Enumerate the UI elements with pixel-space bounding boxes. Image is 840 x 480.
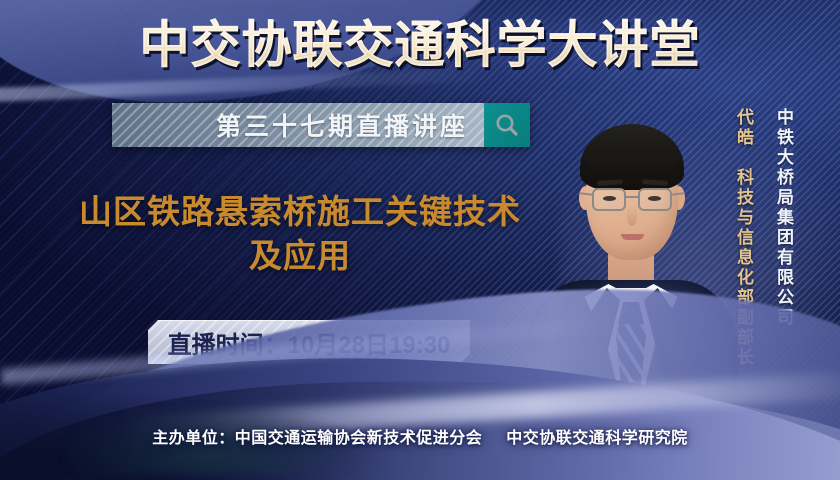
episode-banner-body: 第三十七期直播讲座 xyxy=(112,103,484,147)
topic-line-1: 山区铁路悬索桥施工关键技术 xyxy=(30,190,570,234)
organizer-footer: 主办单位：中国交通运输协会新技术促进分会中交协联交通科学研究院 xyxy=(0,424,840,448)
organizer-primary: 中国交通运输协会新技术促进分会 xyxy=(235,430,483,447)
glasses-bridge xyxy=(626,196,638,198)
glasses-lens-left xyxy=(592,188,626,211)
portrait-nose xyxy=(627,208,637,226)
episode-banner: 第三十七期直播讲座 xyxy=(112,103,530,147)
lecture-topic: 山区铁路悬索桥施工关键技术 及应用 xyxy=(30,190,570,278)
organizer-secondary: 中交协联交通科学研究院 xyxy=(506,430,688,447)
live-lecture-poster: 中交协联交通科学大讲堂 第三十七期直播讲座 山区铁路悬索桥施工关键技术 及应用 … xyxy=(0,0,840,480)
bottom-silk-decoration xyxy=(0,280,840,480)
topic-line-2: 及应用 xyxy=(30,234,570,278)
episode-label: 第三十七期直播讲座 xyxy=(216,107,468,143)
organizer-label: 主办单位： xyxy=(152,430,235,447)
page-title: 中交协联交通科学大讲堂 xyxy=(0,16,840,74)
glasses-lens-right xyxy=(638,188,672,211)
portrait-mouth xyxy=(621,234,644,240)
